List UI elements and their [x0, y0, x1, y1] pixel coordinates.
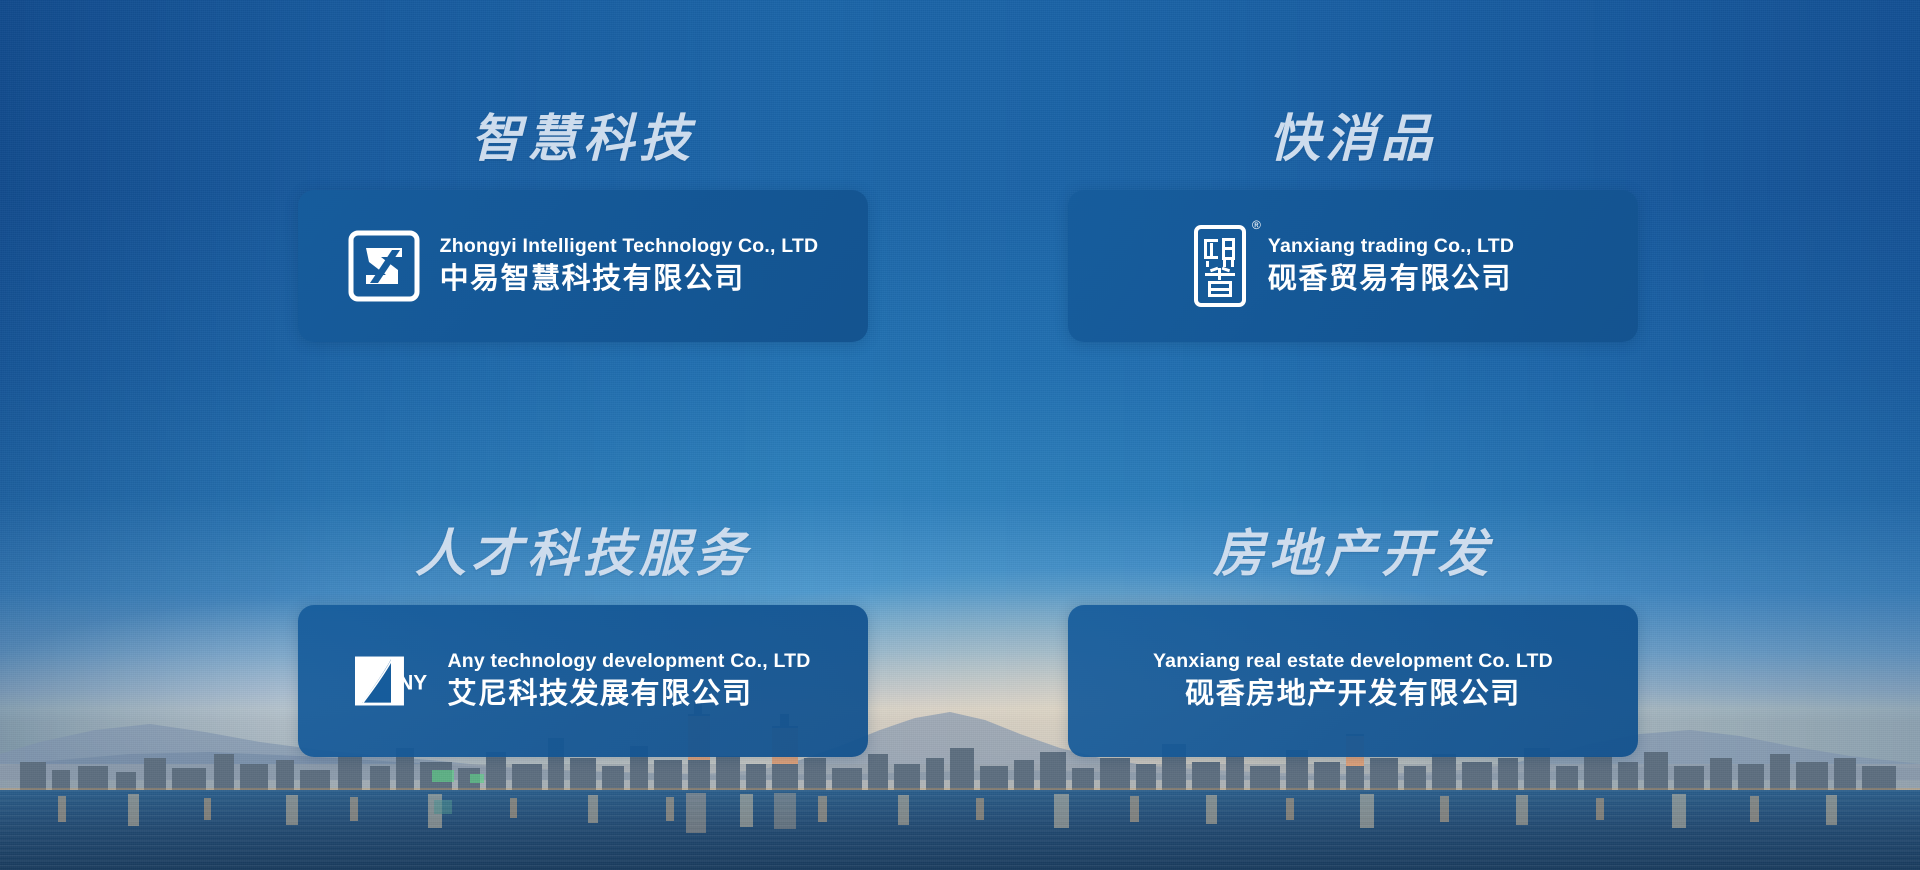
company-name-cn-yanxiang-trading: 砚香贸易有限公司	[1268, 263, 1514, 295]
registered-trademark-icon: ®	[1252, 219, 1261, 231]
company-name-cn-any-technology: 艾尼科技发展有限公司	[447, 678, 810, 710]
segment-heading-talent-tech-services: 人才科技服务	[298, 527, 868, 581]
any-technology-logo-icon: NY	[355, 645, 427, 717]
segment-cell-talent-tech-services: 人才科技服务 NY	[0, 435, 960, 870]
segment-cell-real-estate: 房地产开发 Yanxiang real estate development C…	[960, 435, 1920, 870]
company-name-cn-yanxiang-real-estate: 砚香房地产开发有限公司	[1185, 678, 1521, 710]
segment-cell-smart-technology: 智慧科技 Zhongyi Intelligent Technology Co.,…	[0, 0, 960, 435]
segment-heading-smart-technology: 智慧科技	[298, 112, 868, 166]
company-card-any-technology[interactable]: NY Any technology development Co., LTD 艾…	[298, 605, 868, 757]
company-name-block-yanxiang-real-estate: Yanxiang real estate development Co. LTD…	[1153, 651, 1553, 710]
page-root: 智慧科技 Zhongyi Intelligent Technology Co.,…	[0, 0, 1920, 870]
company-name-en-yanxiang-trading: Yanxiang trading Co., LTD	[1268, 236, 1514, 257]
company-name-en-yanxiang-real-estate: Yanxiang real estate development Co. LTD	[1153, 651, 1553, 672]
company-name-en-zhongyi: Zhongyi Intelligent Technology Co., LTD	[440, 236, 819, 257]
company-card-yanxiang-real-estate[interactable]: Yanxiang real estate development Co. LTD…	[1068, 605, 1638, 757]
company-name-en-any-technology: Any technology development Co., LTD	[447, 651, 810, 672]
zhongyi-z-logo-icon	[348, 230, 420, 302]
company-name-block-yanxiang-trading: Yanxiang trading Co., LTD 砚香贸易有限公司	[1268, 236, 1514, 295]
svg-text:NY: NY	[399, 671, 428, 694]
company-name-block-zhongyi: Zhongyi Intelligent Technology Co., LTD …	[440, 236, 819, 295]
company-card-yanxiang-trading[interactable]: ® Yanxiang trading Co., LTD 砚香贸易有限公司	[1068, 190, 1638, 342]
yanxiang-seal-logo-icon: ®	[1192, 223, 1248, 309]
segment-heading-fmcg: 快消品	[1068, 112, 1638, 166]
segments-grid: 智慧科技 Zhongyi Intelligent Technology Co.,…	[0, 0, 1920, 870]
company-card-zhongyi[interactable]: Zhongyi Intelligent Technology Co., LTD …	[298, 190, 868, 342]
segment-cell-fmcg: 快消品	[960, 0, 1920, 435]
company-name-cn-zhongyi: 中易智慧科技有限公司	[440, 263, 819, 295]
segment-heading-real-estate: 房地产开发	[1068, 527, 1638, 581]
company-name-block-any-technology: Any technology development Co., LTD 艾尼科技…	[447, 651, 810, 710]
